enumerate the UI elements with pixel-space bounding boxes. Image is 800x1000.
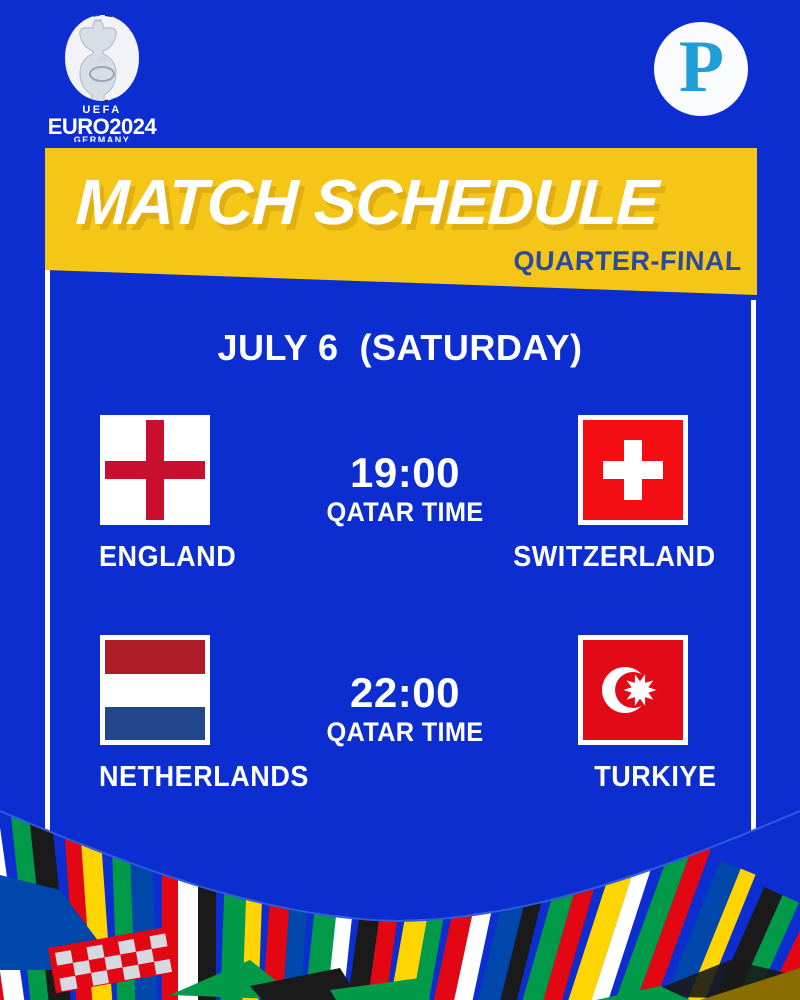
brand-circle-logo[interactable]: P (654, 22, 748, 116)
brand-logo-letter: P (679, 30, 723, 104)
kickoff-block: 22:00 QATAR TIME (255, 670, 555, 748)
flag-england (100, 415, 210, 525)
kickoff-time: 22:00 (255, 670, 555, 716)
flag-switzerland (578, 415, 688, 525)
flag-turkiye (578, 635, 688, 745)
away-team-name: SWITZERLAND (514, 541, 716, 574)
match-row: 22:00 QATAR TIME NETHERLANDS TURKIYE (80, 635, 730, 805)
away-team-name: TURKIYE (594, 761, 716, 794)
euro-2024-flag-stripes-arc (0, 800, 800, 1000)
home-team-name: ENGLAND (99, 541, 236, 574)
kickoff-block: 19:00 QATAR TIME (255, 450, 555, 528)
kickoff-timezone: QATAR TIME (264, 716, 546, 748)
home-team-name: NETHERLANDS (99, 761, 309, 794)
poster-canvas: UEFA EURO2024 GERMANY P MATCH SCHEDULE Q… (0, 0, 800, 1000)
match-schedule-banner: MATCH SCHEDULE QUARTER-FINAL (0, 148, 800, 318)
page-title: MATCH SCHEDULE (74, 162, 777, 242)
svg-text:GERMANY: GERMANY (74, 135, 131, 142)
kickoff-time: 19:00 (255, 450, 555, 496)
banner-subtitle: QUARTER-FINAL (75, 244, 742, 278)
flag-netherlands (100, 635, 210, 745)
kickoff-timezone: QATAR TIME (264, 496, 546, 528)
match-row: 19:00 QATAR TIME ENGLAND SWITZERLAND (80, 415, 730, 585)
match-date-label: JULY 6 (SATURDAY) (0, 327, 800, 369)
euro-2024-trophy-logo: UEFA EURO2024 GERMANY (44, 12, 160, 142)
right-vertical-rule (751, 300, 756, 860)
